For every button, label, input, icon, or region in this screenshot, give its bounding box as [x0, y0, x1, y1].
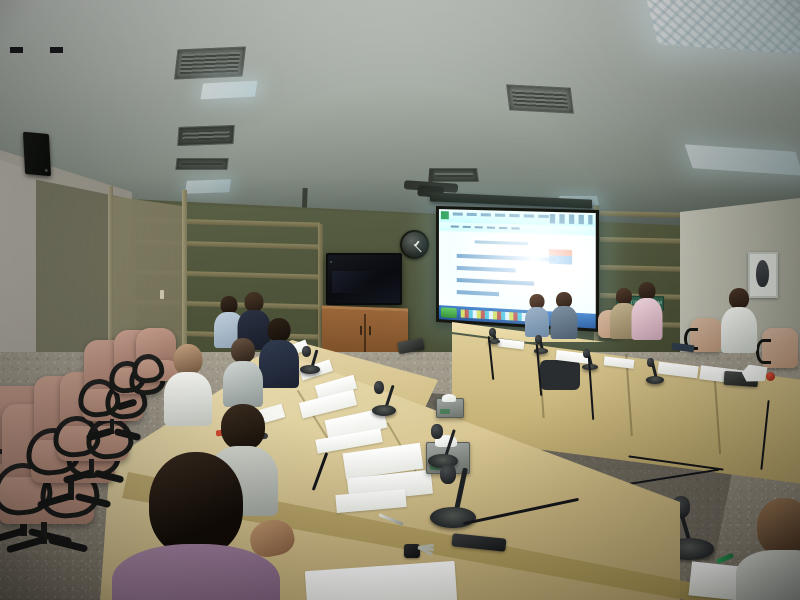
wooden-cabinet[interactable]	[322, 305, 408, 357]
microphone-gooseneck[interactable]	[372, 386, 396, 416]
attendee-blue-shirt-presenter	[526, 294, 548, 336]
cabinet-handle[interactable]	[360, 326, 362, 335]
person-head	[174, 344, 203, 375]
person-torso	[551, 306, 578, 339]
tv-stand-foot	[50, 47, 63, 53]
person-torso	[632, 298, 663, 340]
clock-minute-hand	[414, 245, 421, 252]
person-head	[729, 288, 749, 309]
wall-television[interactable]	[326, 253, 402, 305]
attendee-dark-hair	[226, 338, 260, 402]
microphone-gooseneck[interactable]	[428, 430, 458, 468]
person-torso	[223, 361, 263, 407]
bottle-cap	[766, 372, 775, 381]
attendee-dark-shirt-right	[552, 292, 576, 338]
wall-clock	[400, 230, 429, 259]
tv-stand-foot	[10, 47, 23, 53]
tissue-box-rear[interactable]	[436, 398, 464, 418]
tv-power-led-icon	[330, 261, 332, 263]
microphone-head-icon	[647, 358, 654, 367]
microphone-gooseneck[interactable]	[646, 362, 664, 384]
person-torso	[721, 307, 757, 353]
attendee-foreground-right	[744, 498, 800, 600]
person-torso	[525, 307, 549, 337]
chair-right-near[interactable]	[762, 328, 798, 368]
page-text-line	[457, 278, 534, 286]
browser-title-text	[453, 212, 549, 218]
cabinet-handle[interactable]	[369, 326, 371, 335]
microphone-base	[646, 376, 664, 384]
wall-speaker	[23, 132, 51, 177]
page-text-line	[457, 266, 516, 273]
browser-logo-icon	[441, 211, 449, 219]
microphone-base	[300, 365, 320, 374]
person-torso	[736, 550, 800, 600]
microphone-head-icon	[302, 346, 311, 357]
person-head	[245, 292, 264, 312]
chair-black-mid[interactable]	[540, 360, 580, 390]
microphone-head-icon	[535, 335, 542, 344]
start-button-icon	[441, 307, 457, 318]
clock-center-pin	[414, 244, 416, 246]
page-heading	[475, 240, 528, 245]
person-head	[149, 452, 243, 556]
microphone-head-icon	[374, 381, 384, 394]
microphone-gooseneck-front[interactable]	[430, 470, 476, 528]
conference-room-photo: MEETING ROOM	[0, 0, 800, 600]
attendee-white-shirt-right	[724, 288, 754, 350]
attendee-navy-shirt	[262, 318, 296, 384]
microphone-head-icon	[440, 464, 456, 484]
attendee-pink-shirt	[634, 282, 660, 338]
chair-armrest	[756, 339, 771, 364]
person-head	[268, 318, 291, 342]
microphone-head-icon	[489, 328, 496, 337]
page-text-line	[457, 290, 499, 296]
chair-right-rear[interactable]	[690, 318, 722, 352]
person-head	[221, 404, 265, 450]
microphone-base	[372, 405, 396, 416]
person-torso	[259, 340, 299, 388]
page-text-line	[457, 254, 555, 262]
door-handle[interactable]	[160, 290, 164, 299]
person-head	[231, 338, 255, 363]
car-keys[interactable]	[404, 540, 438, 562]
person-head	[757, 498, 800, 556]
microphone-base	[430, 507, 476, 528]
microphone-head-icon	[431, 424, 443, 439]
person-torso	[164, 372, 212, 426]
attendee-front-purple	[136, 452, 256, 600]
taskbar-icons	[461, 309, 528, 321]
microphone-gooseneck[interactable]	[300, 350, 320, 374]
attendee-white-shirt	[168, 344, 208, 422]
browser-window-controls-icon	[550, 214, 593, 225]
